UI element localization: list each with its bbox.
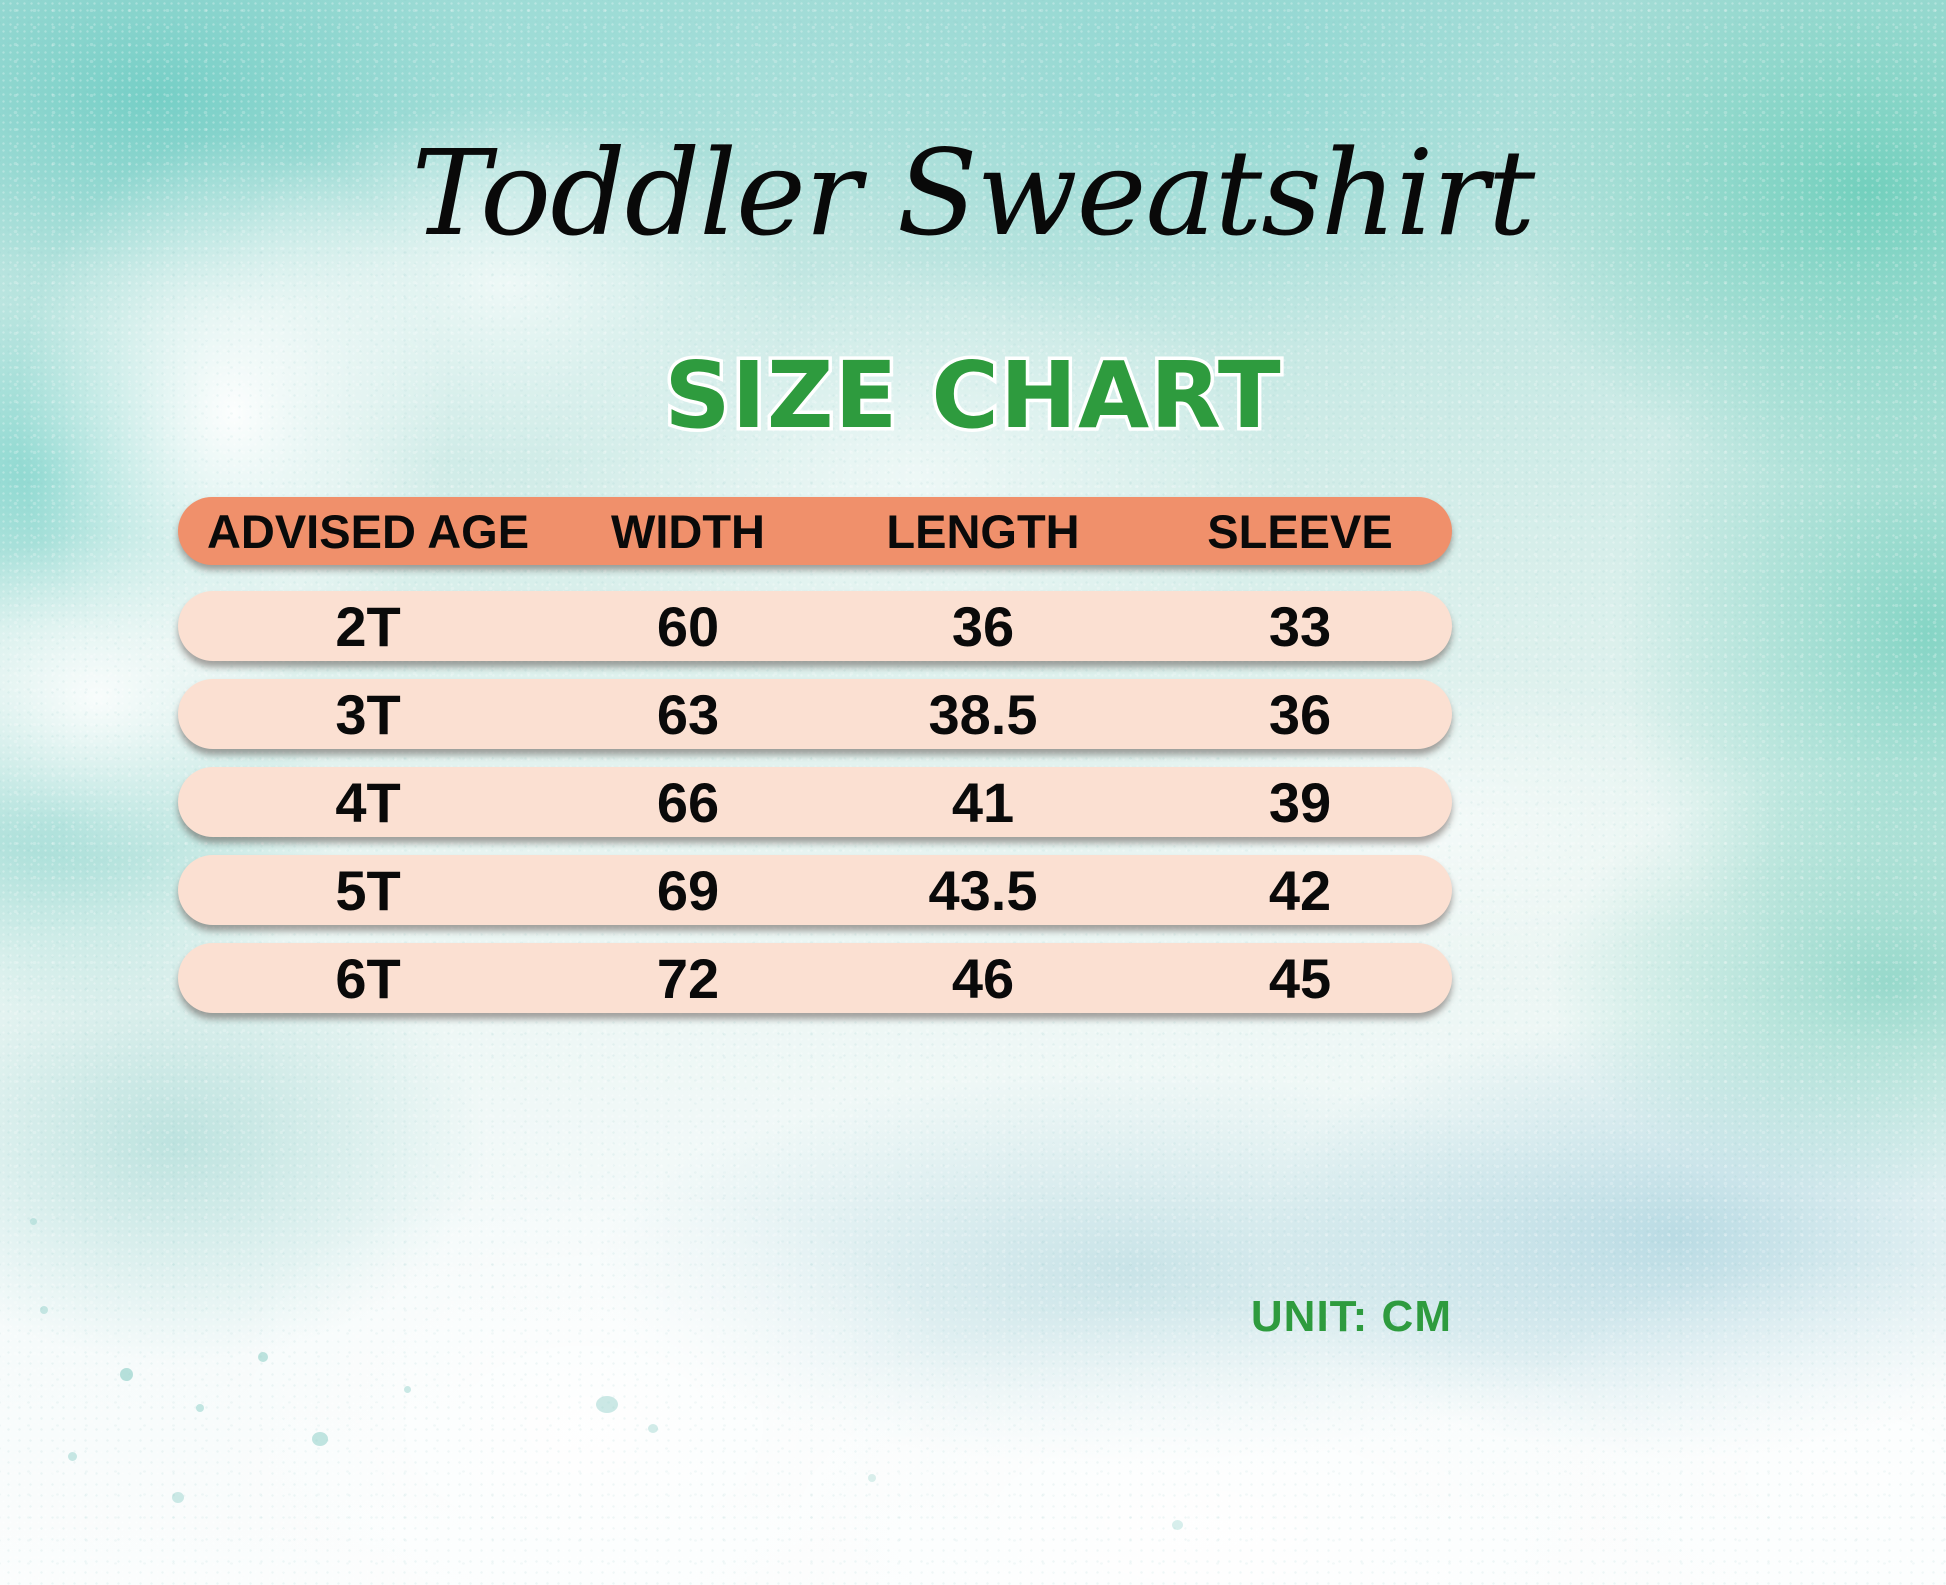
cell-width: 72 — [558, 946, 818, 1011]
cell-sleeve: 45 — [1148, 946, 1452, 1011]
cell-length: 43.5 — [818, 858, 1148, 923]
cell-length: 41 — [818, 770, 1148, 835]
cell-sleeve: 36 — [1148, 682, 1452, 747]
cell-length: 36 — [818, 594, 1148, 659]
unit-note: UNIT: CM — [0, 1292, 1452, 1342]
column-header-advised-age: ADVISED AGE — [178, 504, 558, 559]
cell-width: 63 — [558, 682, 818, 747]
cell-width: 66 — [558, 770, 818, 835]
page-subtitle: SIZE CHART — [0, 350, 1946, 442]
table-row: 2T 60 36 33 — [178, 591, 1452, 661]
table-row: 6T 72 46 45 — [178, 943, 1452, 1013]
page-title: Toddler Sweatshirt — [0, 132, 1946, 256]
cell-length: 38.5 — [818, 682, 1148, 747]
cell-sleeve: 39 — [1148, 770, 1452, 835]
table-row: 3T 63 38.5 36 — [178, 679, 1452, 749]
table-header-row: ADVISED AGE WIDTH LENGTH SLEEVE — [178, 497, 1452, 565]
cell-advised-age: 2T — [178, 594, 558, 659]
table-row: 5T 69 43.5 42 — [178, 855, 1452, 925]
cell-advised-age: 3T — [178, 682, 558, 747]
table-row: 4T 66 41 39 — [178, 767, 1452, 837]
cell-width: 69 — [558, 858, 818, 923]
cell-sleeve: 42 — [1148, 858, 1452, 923]
column-header-length: LENGTH — [818, 504, 1148, 559]
cell-width: 60 — [558, 594, 818, 659]
cell-advised-age: 6T — [178, 946, 558, 1011]
cell-length: 46 — [818, 946, 1148, 1011]
column-header-width: WIDTH — [558, 504, 818, 559]
column-header-sleeve: SLEEVE — [1148, 504, 1452, 559]
cell-sleeve: 33 — [1148, 594, 1452, 659]
size-chart-table: ADVISED AGE WIDTH LENGTH SLEEVE 2T 60 36… — [178, 497, 1452, 1013]
cell-advised-age: 5T — [178, 858, 558, 923]
cell-advised-age: 4T — [178, 770, 558, 835]
